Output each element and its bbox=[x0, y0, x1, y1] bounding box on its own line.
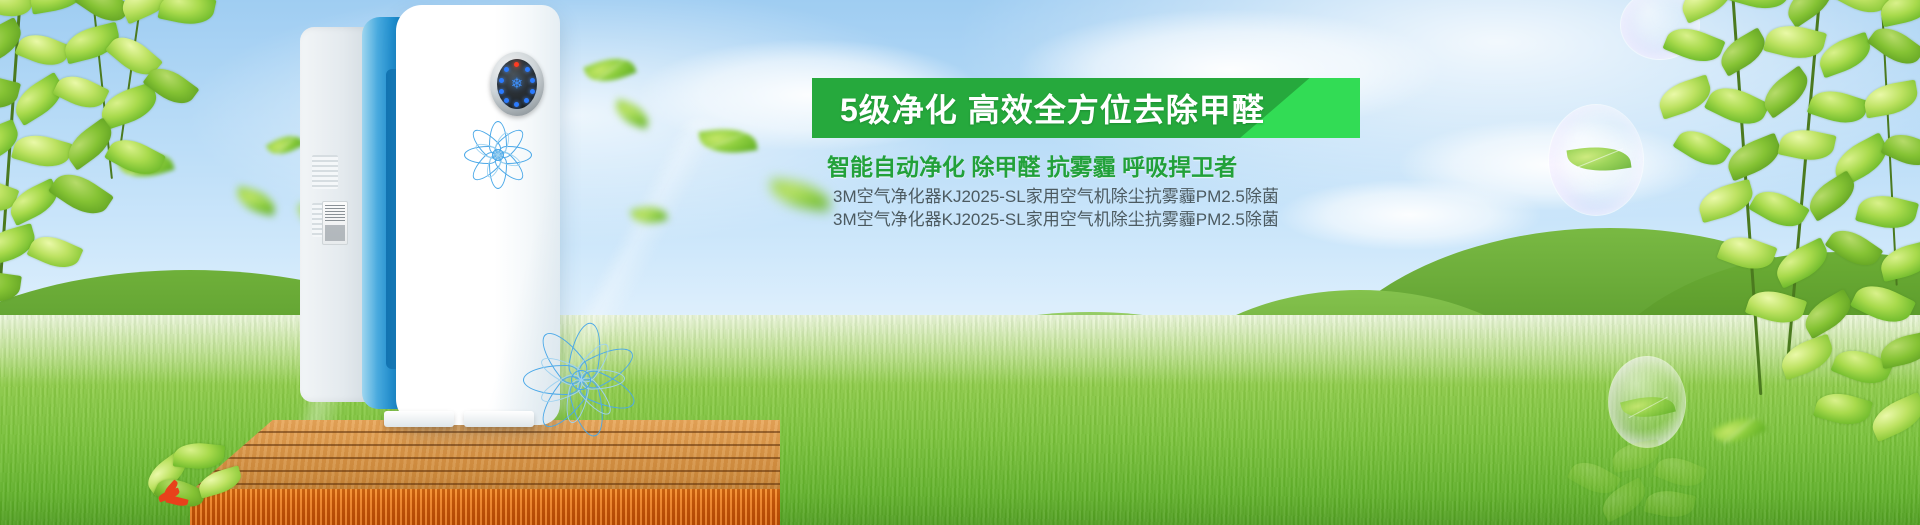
flower-center bbox=[571, 370, 591, 390]
promo-banner: ❄ bbox=[0, 0, 1920, 525]
mode-led bbox=[504, 67, 509, 72]
flower-decal-lower bbox=[516, 315, 646, 445]
mode-led bbox=[499, 78, 504, 83]
snowflake-icon: ❄ bbox=[511, 77, 524, 92]
mode-led bbox=[504, 98, 509, 103]
deck-edge bbox=[190, 489, 780, 525]
wooden-deck bbox=[190, 420, 780, 525]
purifier-foot-right bbox=[464, 411, 534, 427]
deck-planks bbox=[190, 420, 780, 492]
power-led bbox=[514, 62, 519, 67]
purifier-front-panel: ❄ bbox=[396, 5, 560, 425]
dial-face[interactable]: ❄ bbox=[497, 59, 537, 109]
mode-led bbox=[530, 78, 535, 83]
control-dial[interactable]: ❄ bbox=[490, 52, 544, 116]
air-purifier-product: ❄ bbox=[300, 5, 560, 425]
flower-decal-upper bbox=[458, 115, 538, 195]
product-label bbox=[322, 201, 348, 245]
purifier-foot-left bbox=[384, 411, 454, 427]
mode-led bbox=[514, 102, 519, 107]
subheadline-text: 智能自动净化 除甲醛 抗雾霾 呼吸捍卫者 bbox=[827, 148, 1237, 182]
mode-led bbox=[525, 67, 530, 72]
mode-led bbox=[530, 89, 535, 94]
product-description-line-1: 3M空气净化器KJ2025-SL家用空气机除尘抗雾霾PM2.5除菌 bbox=[833, 182, 1279, 207]
vent-grille-top bbox=[312, 155, 338, 189]
product-description-line-2: 3M空气净化器KJ2025-SL家用空气机除尘抗雾霾PM2.5除菌 bbox=[833, 205, 1279, 230]
headline-banner: 5级净化 高效全方位去除甲醛 bbox=[812, 78, 1360, 138]
mode-led bbox=[524, 98, 529, 103]
flower-center bbox=[492, 149, 504, 161]
mode-led bbox=[499, 89, 504, 94]
panel-highlight bbox=[404, 13, 438, 413]
headline-text: 5级净化 高效全方位去除甲醛 bbox=[840, 85, 1265, 131]
